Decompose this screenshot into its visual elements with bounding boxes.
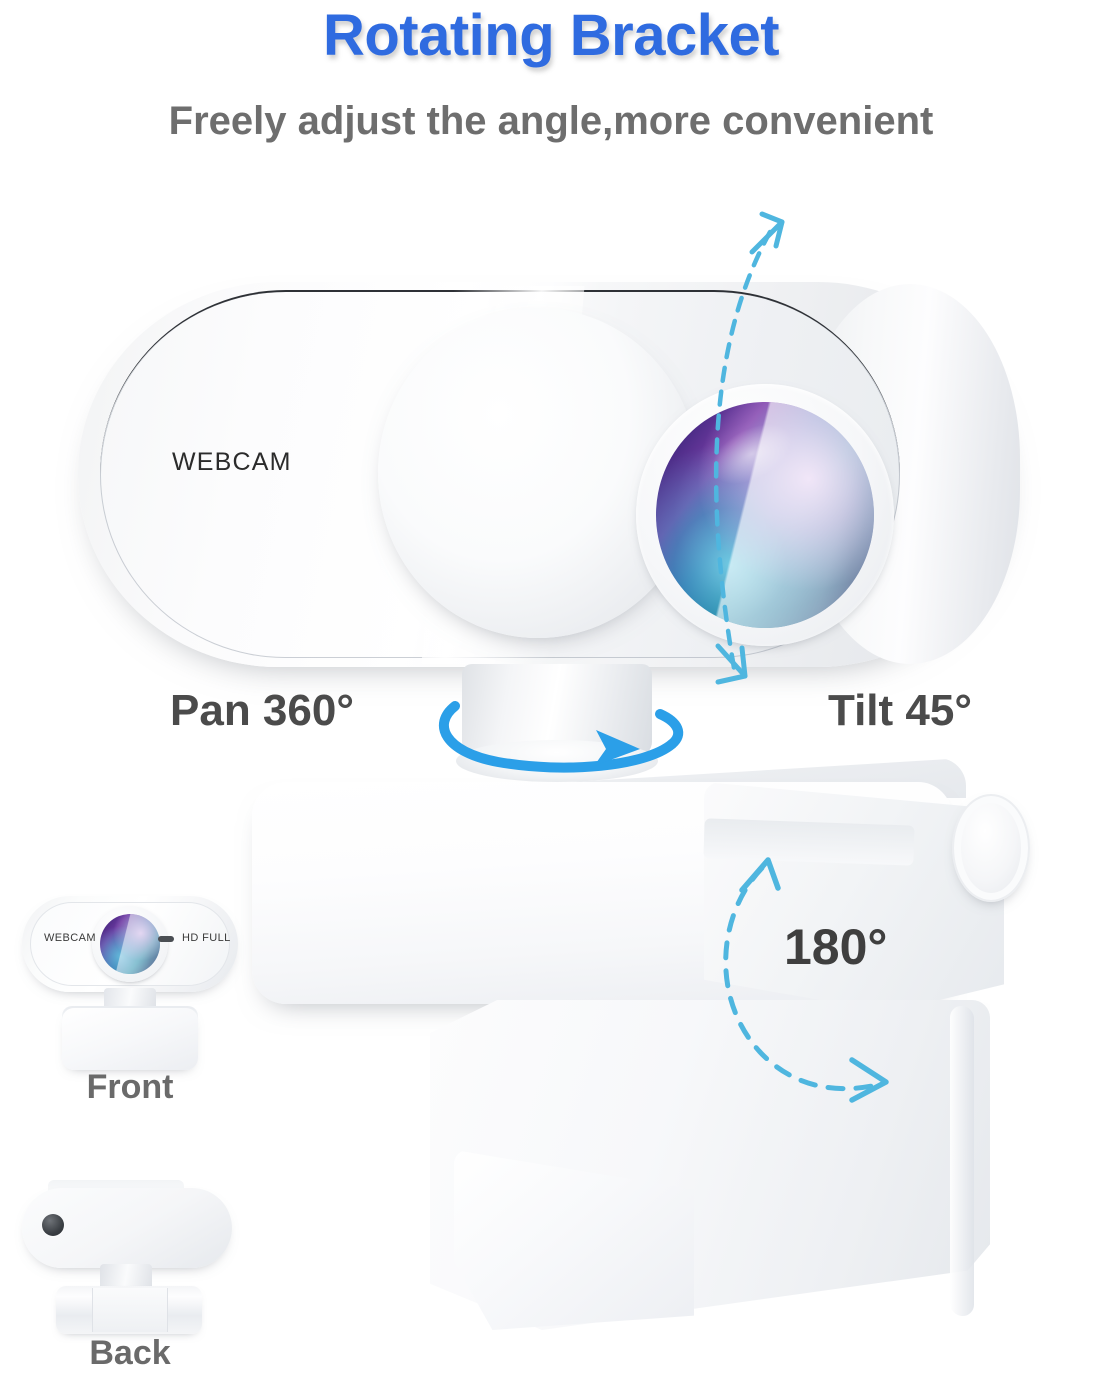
thumb-front-spec-label: HD FULL	[182, 932, 231, 944]
bracket-upper-arm	[252, 758, 1012, 1016]
tilt-arrowhead-top	[752, 214, 782, 252]
thumb-front-brand-label: WEBCAM	[44, 932, 96, 944]
webcam-brand-label: WEBCAM	[172, 448, 292, 477]
thumbnail-front-label: Front	[8, 1068, 252, 1107]
webcam-product-image: WEBCAM HD FULL	[78, 262, 1018, 672]
bracket-hinge-cap-icon	[952, 794, 1030, 902]
thumbnail-front-view: WEBCAM HD FULL	[8, 888, 252, 1048]
thumb-front-lens-icon	[100, 914, 160, 974]
thumb-front-lens-ring	[92, 906, 168, 982]
tilt-annotation-label: Tilt 45°	[828, 686, 972, 736]
pan-annotation-label: Pan 360°	[170, 686, 354, 736]
fold-annotation-label: 180°	[784, 918, 887, 976]
thumbnail-back-label: Back	[8, 1334, 252, 1373]
page-subtitle: Freely adjust the angle,more convenient	[151, 96, 951, 147]
bracket-lower-edge	[950, 1005, 974, 1316]
bracket-hinge-notch	[703, 818, 914, 865]
thumb-back-hinge-center	[92, 1288, 168, 1332]
thumbnail-back-view	[8, 1180, 252, 1330]
lens-glass-highlight	[656, 402, 874, 628]
lens-bezel-ring	[636, 384, 894, 646]
camera-lens-icon	[656, 402, 874, 628]
thumb-back-screw-hole-icon	[42, 1214, 64, 1236]
page-title: Rotating Bracket	[0, 2, 1102, 69]
thumb-front-stand	[62, 1008, 198, 1070]
bracket-lower-clamp	[430, 1000, 1030, 1360]
infographic-canvas: Rotating Bracket Freely adjust the angle…	[0, 0, 1102, 1396]
thumb-front-mic-icon	[158, 936, 174, 942]
lens-housing	[378, 308, 698, 638]
